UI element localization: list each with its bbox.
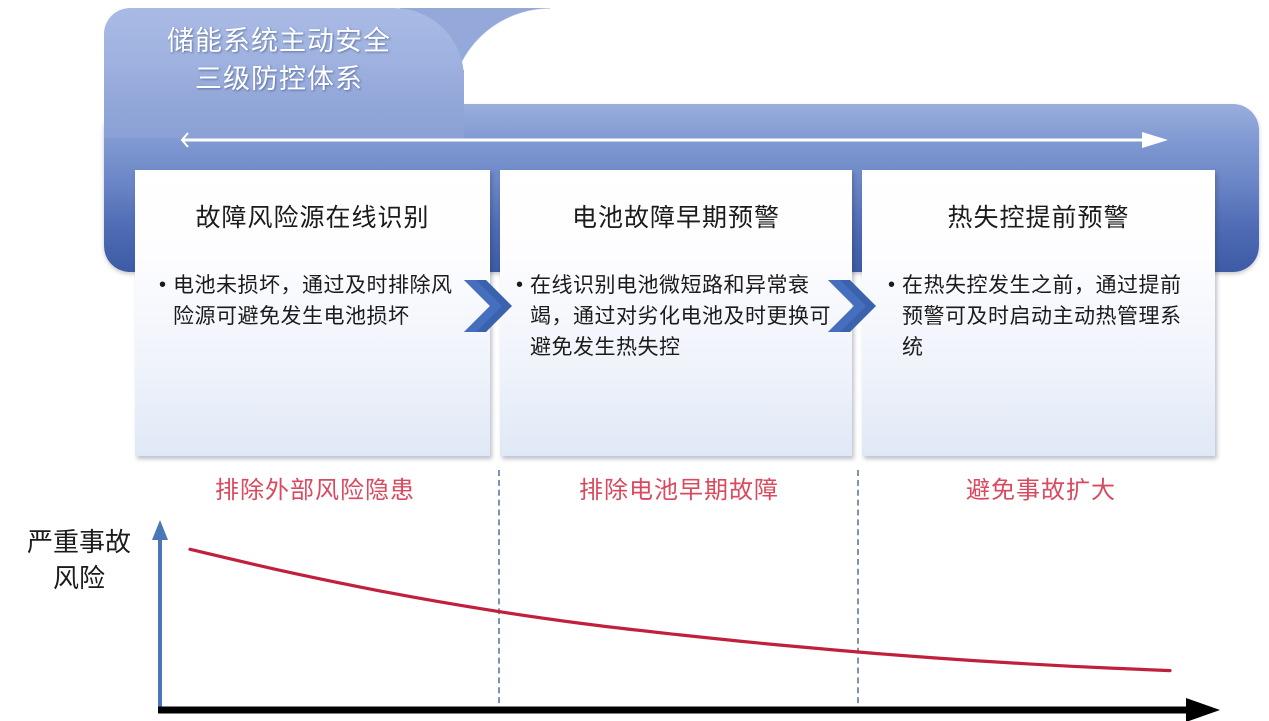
stage-panel-2-title: 电池故障早期预警 [500,198,852,234]
risk-decay-chart [0,500,1269,721]
chart-y-axis [152,520,168,708]
bullet-icon: • [888,270,902,300]
stage-panel-2[interactable]: 电池故障早期预警 • 在线识别电池微短路和异常衰竭，通过对劣化电池及时更换可避免… [500,170,852,456]
stage-panel-2-text: 在线识别电池微短路和异常衰竭，通过对劣化电池及时更换可避免发生热失控 [530,270,838,363]
stage-panel-1-body: • 电池未损坏，通过及时排除风险源可避免发生电池损坏 [159,270,472,332]
bullet-icon: • [159,270,173,300]
stage-panel-1-title: 故障风险源在线识别 [135,198,490,234]
progress-arrow-icon [180,130,1170,150]
bullet-icon: • [516,270,530,300]
chevron-right-icon [462,276,518,336]
stage-panel-1[interactable]: 故障风险源在线识别 • 电池未损坏，通过及时排除风险源可避免发生电池损坏 [135,170,490,456]
stage-panel-3-title: 热失控提前预警 [862,198,1215,234]
chevron-right-icon [826,276,882,336]
stage-panel-3[interactable]: 热失控提前预警 • 在热失控发生之前，通过提前预警可及时启动主动热管理系统 [862,170,1215,456]
stage-panel-3-body: • 在热失控发生之前，通过提前预警可及时启动主动热管理系统 [888,270,1199,363]
banner-title-text: 储能系统主动安全 三级防控体系 [114,22,444,98]
stage-panel-1-text: 电池未损坏，通过及时排除风险源可避免发生电池损坏 [173,270,472,332]
chart-x-axis [158,698,1220,721]
risk-curve-line [190,549,1170,670]
stage-panel-2-body: • 在线识别电池微短路和异常衰竭，通过对劣化电池及时更换可避免发生热失控 [516,270,838,363]
stage-panel-3-text: 在热失控发生之前，通过提前预警可及时启动主动热管理系统 [902,270,1199,363]
slide-canvas: 储能系统主动安全 三级防控体系 故障风险源在线识别 • 电池未损坏，通过及时排除… [0,0,1269,721]
